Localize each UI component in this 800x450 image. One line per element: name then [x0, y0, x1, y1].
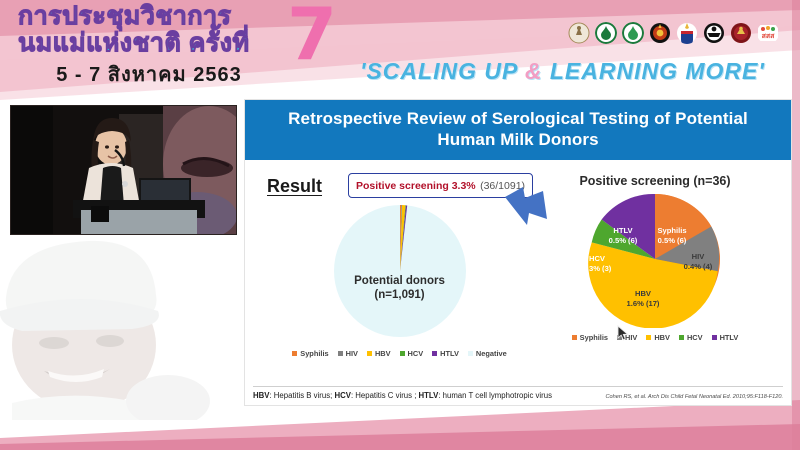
swatch-syphilis — [292, 351, 297, 356]
royal-emblem-logo — [568, 22, 590, 44]
tagline-part2: LEARNING MORE' — [542, 58, 764, 84]
legend-item-syphilis: Syphilis — [292, 349, 328, 358]
right-edge-stripe — [792, 0, 800, 450]
legend-right: Syphilis HIV HBV HCV HTLV — [540, 333, 770, 342]
chart-right-title: Positive screening (n=36) — [540, 174, 770, 188]
abbrev-htlv-key: HTLV — [419, 391, 439, 400]
council-emblem-logo — [703, 22, 725, 44]
chart-potential-donors: Potential donors (n=1,091) Syphilis HIV … — [287, 198, 512, 358]
swatch-hiv — [338, 351, 343, 356]
callout-main-text: Positive screening 3.3% — [356, 180, 476, 192]
conference-title-thai: การประชุมวิชาการ นมแม่แห่งชาติ ครั้งที่ … — [18, 4, 318, 90]
abbrev-hcv-val: : Hepatitis C virus ; — [351, 391, 419, 400]
tagline-part1: 'SCALING UP — [360, 58, 525, 84]
legend-label-hbv: HBV — [375, 349, 391, 358]
health-department-logo — [622, 22, 644, 44]
thai-health-sss-logo: สสส — [757, 22, 779, 44]
swatch-htlv — [432, 351, 437, 356]
swatch-hcv — [400, 351, 405, 356]
garuda-emblem-logo — [730, 22, 752, 44]
speaker-video-thumbnail[interactable] — [10, 105, 237, 235]
swatch-hbv-right — [646, 335, 651, 340]
legend-item-hcv-right: HCV — [679, 333, 703, 342]
abbrev-hbv-val: : Hepatitis B virus; — [269, 391, 334, 400]
legend-item-hbv: HBV — [367, 349, 391, 358]
legend-label-htlv-right: HTLV — [720, 333, 739, 342]
svg-text:สสส: สสส — [762, 32, 776, 40]
legend-label-syphilis: Syphilis — [300, 349, 328, 358]
presentation-slide: Retrospective Review of Serological Test… — [245, 100, 791, 405]
legend-item-htlv: HTLV — [432, 349, 459, 358]
background-child-photo — [0, 225, 222, 420]
swatch-syphilis-right — [572, 335, 577, 340]
abbrev-hbv-key: HBV — [253, 391, 269, 400]
royal-crest-logo — [676, 22, 698, 44]
thai-title-line2: นมแม่แห่งชาติ ครั้งที่ — [18, 31, 318, 57]
swatch-hcv-right — [679, 335, 684, 340]
edition-number: 7 — [287, 0, 337, 70]
pagoda-emblem-logo — [649, 22, 671, 44]
tagline-ampersand: & — [525, 58, 543, 84]
legend-label-negative: Negative — [476, 349, 507, 358]
abbrev-hcv-key: HCV — [334, 391, 350, 400]
legend-label-htlv: HTLV — [440, 349, 459, 358]
slide-title: Retrospective Review of Serological Test… — [245, 100, 791, 160]
abbrev-htlv-val: : human T cell lymphotropic virus — [438, 391, 552, 400]
conference-date: 5 - 7 สิงหาคม 2563 — [18, 58, 280, 90]
swatch-negative — [468, 351, 473, 356]
legend-label-hcv: HCV — [408, 349, 424, 358]
result-heading: Result — [267, 176, 322, 197]
legend-label-hbv-right: HBV — [654, 333, 670, 342]
ministry-health-logo — [595, 22, 617, 44]
legend-label-syphilis-right: Syphilis — [580, 333, 608, 342]
legend-label-hiv: HIV — [346, 349, 358, 358]
legend-left: Syphilis HIV HBV HCV HTLV Negative — [287, 349, 512, 358]
citation-text: Cohen RS, et al. Arch Dis Child Fetal Ne… — [605, 394, 783, 400]
legend-item-hiv: HIV — [338, 349, 358, 358]
legend-item-syphilis-right: Syphilis — [572, 333, 608, 342]
legend-item-hbv-right: HBV — [646, 333, 670, 342]
conference-tagline: 'SCALING UP & LEARNING MORE' — [360, 58, 765, 85]
screenshot-stage: การประชุมวิชาการ นมแม่แห่งชาติ ครั้งที่ … — [0, 0, 800, 450]
swatch-hbv — [367, 351, 372, 356]
legend-label-hcv-right: HCV — [687, 333, 703, 342]
legend-item-negative: Negative — [468, 349, 507, 358]
abbreviation-note: HBV: Hepatitis B virus; HCV: Hepatitis C… — [253, 391, 552, 400]
slide-footnote: HBV: Hepatitis B virus; HCV: Hepatitis C… — [253, 386, 783, 400]
pie-right: Syphilis 0.5% (6) HIV 0.4% (4) HBV 1.6% … — [540, 190, 770, 328]
chart-positive-screening: Positive screening (n=36) Syphilis 0.5% … — [540, 174, 770, 342]
pie-left: Potential donors (n=1,091) — [287, 198, 512, 344]
sponsor-logos: สสส — [568, 22, 779, 44]
mouse-cursor-icon — [617, 325, 630, 347]
legend-item-hcv: HCV — [400, 349, 424, 358]
legend-item-htlv-right: HTLV — [712, 333, 739, 342]
thai-title-line1: การประชุมวิชาการ — [18, 4, 318, 30]
swatch-htlv-right — [712, 335, 717, 340]
